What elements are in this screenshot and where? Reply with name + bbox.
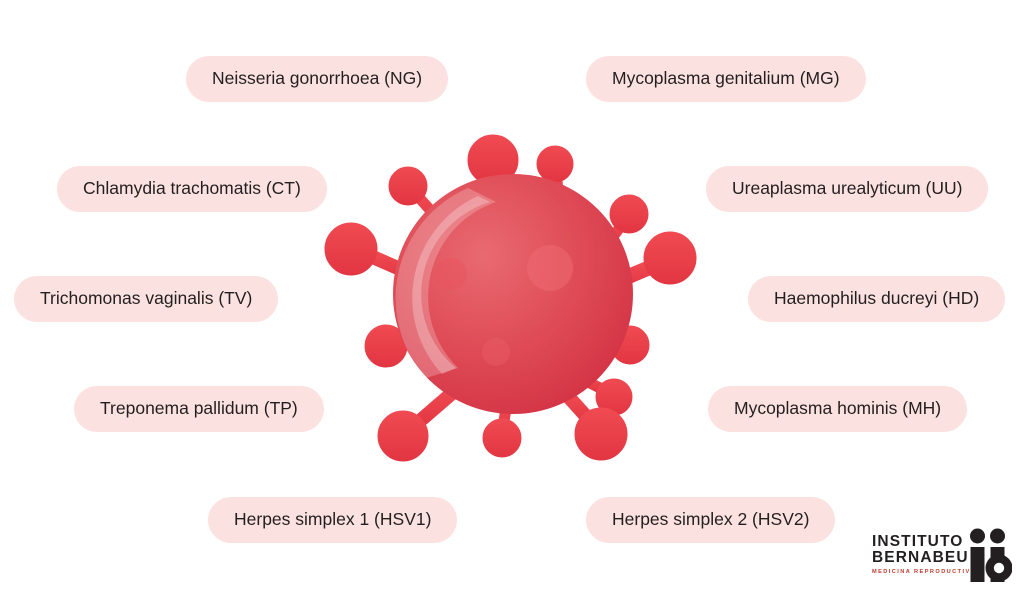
pathogen-pill-tp[interactable]: Treponema pallidum (TP) bbox=[74, 386, 324, 432]
logo-monogram-ib-icon bbox=[968, 528, 1012, 582]
pathogen-pill-tv[interactable]: Trichomonas vaginalis (TV) bbox=[14, 276, 278, 322]
pathogen-pill-mh[interactable]: Mycoplasma hominis (MH) bbox=[708, 386, 967, 432]
pathogen-pill-hd[interactable]: Haemophilus ducreyi (HD) bbox=[748, 276, 1005, 322]
virus-body bbox=[393, 174, 633, 414]
infographic-canvas: Neisseria gonorrhoea (NG) Mycoplasma gen… bbox=[0, 0, 1024, 597]
logo-tagline: MEDICINA REPRODUCTIVA bbox=[872, 569, 968, 576]
pathogen-pill-ct[interactable]: Chlamydia trachomatis (CT) bbox=[57, 166, 327, 212]
logo-line-bernabeu: BERNABEU bbox=[872, 550, 968, 566]
pathogen-pill-hsv2[interactable]: Herpes simplex 2 (HSV2) bbox=[586, 497, 835, 543]
pathogen-pill-hsv1[interactable]: Herpes simplex 1 (HSV1) bbox=[208, 497, 457, 543]
logo-line-instituto: INSTITUTO bbox=[872, 534, 968, 550]
brand-logo: INSTITUTO BERNABEU MEDICINA REPRODUCTIVA bbox=[872, 528, 1012, 586]
logo-wordmark: INSTITUTO BERNABEU MEDICINA REPRODUCTIVA bbox=[872, 534, 968, 576]
pathogen-pill-uu[interactable]: Ureaplasma urealyticum (UU) bbox=[706, 166, 988, 212]
pathogen-pill-mg[interactable]: Mycoplasma genitalium (MG) bbox=[586, 56, 866, 102]
pathogen-pill-ng[interactable]: Neisseria gonorrhoea (NG) bbox=[186, 56, 448, 102]
virus-illustration bbox=[318, 116, 704, 464]
